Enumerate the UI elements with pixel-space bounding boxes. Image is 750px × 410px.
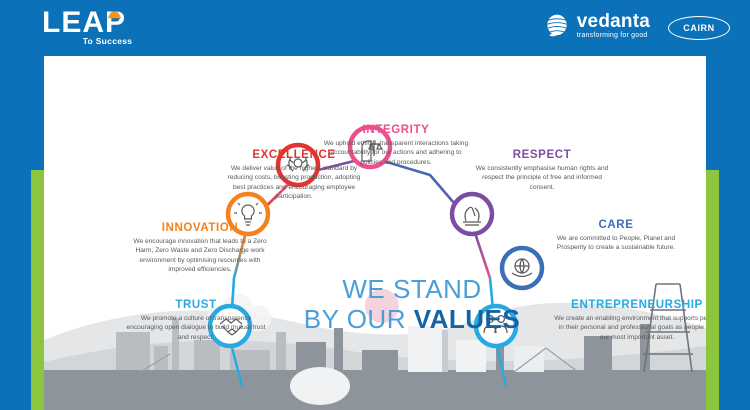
headline-line-2: BY OUR VALUES [292, 304, 532, 334]
vedanta-globe-icon [544, 12, 570, 39]
value-title-entrepreneurship: ENTREPRENEURSHIP [554, 299, 706, 311]
vedanta-logo: vedanta transforming for good [544, 12, 650, 39]
value-desc-respect: We consistently emphasise human rights a… [472, 164, 612, 192]
accent-bar-right [706, 170, 719, 410]
value-block-trust: TRUST We promote a culture of transparen… [126, 299, 266, 342]
center-headline: WE STAND BY OUR VALUES [292, 274, 532, 334]
value-block-respect: RESPECT We consistently emphasise human … [472, 149, 612, 192]
value-title-respect: RESPECT [472, 149, 612, 161]
leap-logo: LEAP To Success [42, 8, 172, 52]
node-respect[interactable] [452, 194, 492, 234]
value-block-entrepreneurship: ENTREPRENEURSHIP We create an enabling e… [554, 299, 706, 342]
headline-line-2-emphasis: VALUES [414, 304, 521, 334]
value-desc-care: We are committed to People, Planet and P… [542, 234, 690, 253]
vedanta-wordmark: vedanta [577, 12, 650, 31]
accent-bar-left [31, 170, 44, 410]
cairn-wordmark: CAIRN [683, 23, 715, 33]
value-block-excellence: EXCELLENCE We deliver value of the highe… [224, 149, 364, 202]
value-title-innovation: INNOVATION [126, 222, 274, 234]
vedanta-tagline: transforming for good [577, 32, 650, 39]
value-desc-innovation: We encourage innovation that leads to a … [126, 237, 274, 275]
value-title-excellence: EXCELLENCE [224, 149, 364, 161]
hard-hat-icon [108, 8, 121, 19]
value-block-innovation: INNOVATION We encourage innovation that … [126, 222, 274, 275]
value-desc-entrepreneurship: We create an enabling environment that s… [554, 314, 706, 342]
value-desc-excellence: We deliver value of the highest standard… [224, 164, 364, 202]
value-title-care: CARE [542, 219, 690, 231]
leap-wordmark: LEAP [42, 8, 172, 38]
page-header: LEAP To Success vedanta transforming for… [0, 0, 750, 56]
headline-line-2-prefix: BY OUR [304, 304, 414, 334]
value-title-trust: TRUST [126, 299, 266, 311]
value-block-care: CARE We are committed to People, Planet … [542, 219, 690, 253]
infographic-canvas: INTEGRITY We uphold ethical, transparent… [44, 56, 706, 410]
headline-line-1: WE STAND [292, 274, 532, 304]
cairn-logo: CAIRN [668, 16, 730, 40]
value-title-integrity: INTEGRITY [322, 124, 470, 136]
value-desc-trust: We promote a culture of transparency enc… [126, 314, 266, 342]
